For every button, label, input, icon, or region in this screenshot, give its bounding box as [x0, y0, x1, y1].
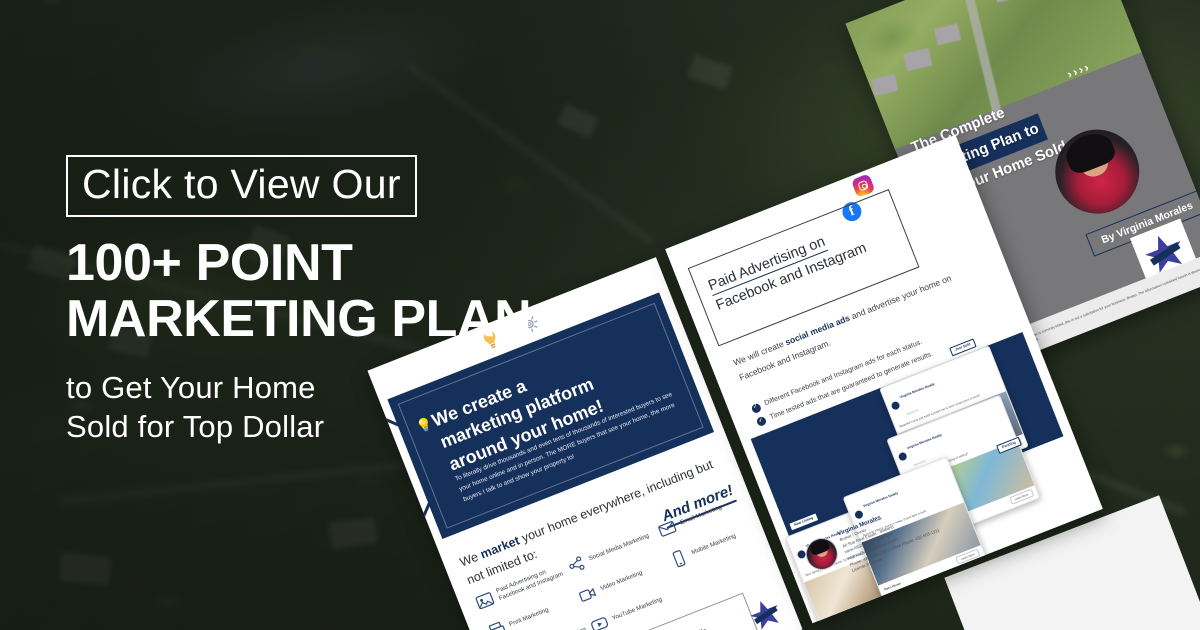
- youtube-icon: [588, 613, 611, 630]
- headline-line-2: MARKETING PLAN: [66, 291, 536, 347]
- cta-label: Click to View Our: [82, 161, 401, 207]
- ad-avatar: [890, 400, 900, 410]
- headline-block: Click to View Our 100+ POINT MARKETING P…: [66, 155, 536, 447]
- social-media-icon: [564, 553, 587, 576]
- channel-label: Mobile Marketing: [691, 532, 738, 557]
- print-marketing-icon: [485, 619, 508, 630]
- ad-account-name: Virginia Morales Realty: [906, 433, 942, 450]
- ad-title: Open House: [884, 582, 902, 592]
- headline-line-1: 100+ POINT: [66, 235, 536, 291]
- ad-avatar: [854, 509, 864, 519]
- ad-title: New Listing: [825, 618, 842, 623]
- video-marketing-icon: [576, 583, 599, 606]
- channel-label: Video Marketing: [599, 569, 644, 593]
- ad-account-name: Virginia Morales Realty: [899, 382, 935, 399]
- mobile-marketing-icon: [667, 547, 690, 570]
- page-left-logo: [744, 593, 788, 630]
- ad-sponsored-label: Sponsored: [906, 409, 919, 416]
- channel-label: Print Marketing: [508, 606, 550, 629]
- cover-disclaimer: If your home is currently listed, this i…: [1018, 252, 1200, 349]
- headline-line-3: to Get Your Home: [66, 369, 536, 408]
- ad-account-name: Virginia Morales Realty: [863, 491, 899, 508]
- headline-line-4: Sold for Top Dollar: [66, 408, 536, 447]
- cta-button[interactable]: Click to View Our: [66, 155, 417, 217]
- ad-avatar: [898, 451, 908, 461]
- facebook-ads-icon: [473, 589, 496, 612]
- email-marketing-icon: [656, 517, 679, 540]
- channel-label: YouTube Marketing: [611, 596, 664, 623]
